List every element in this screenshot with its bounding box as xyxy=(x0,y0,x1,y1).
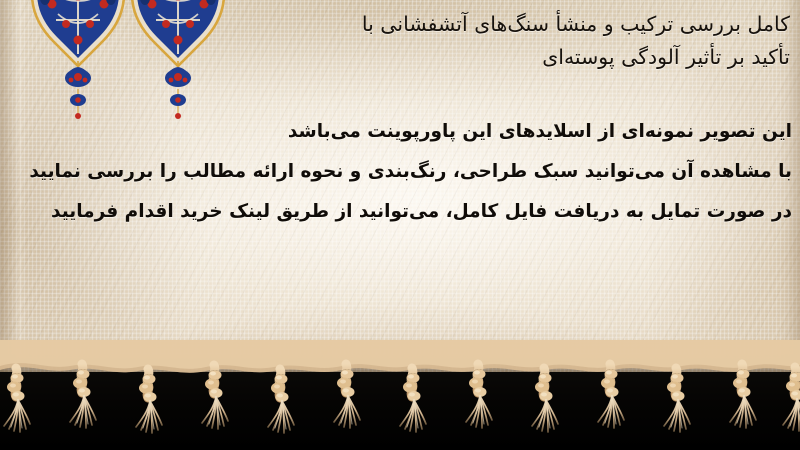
body-line-1: این تصویر نمونه‌ای از اسلایدهای این پاور… xyxy=(14,112,792,152)
title-line-1: کامل بررسی ترکیب و منشأ سنگ‌های آتشفشانی… xyxy=(210,8,790,41)
page-title: کامل بررسی ترکیب و منشأ سنگ‌های آتشفشانی… xyxy=(210,8,790,74)
body-line-3: در صورت تمایل به دریافت فایل کامل، می‌تو… xyxy=(14,192,792,232)
carpet-fringe-tassels xyxy=(0,340,800,450)
title-line-2: تأکید بر تأثیر آلودگی پوسته‌ای xyxy=(210,41,790,74)
body-line-2: با مشاهده آن می‌توانید سبک طراحی، رنگ‌بن… xyxy=(14,152,792,192)
body-text-block: این تصویر نمونه‌ای از اسلایدهای این پاور… xyxy=(14,112,792,232)
slide-canvas: کامل بررسی ترکیب و منشأ سنگ‌های آتشفشانی… xyxy=(0,0,800,450)
